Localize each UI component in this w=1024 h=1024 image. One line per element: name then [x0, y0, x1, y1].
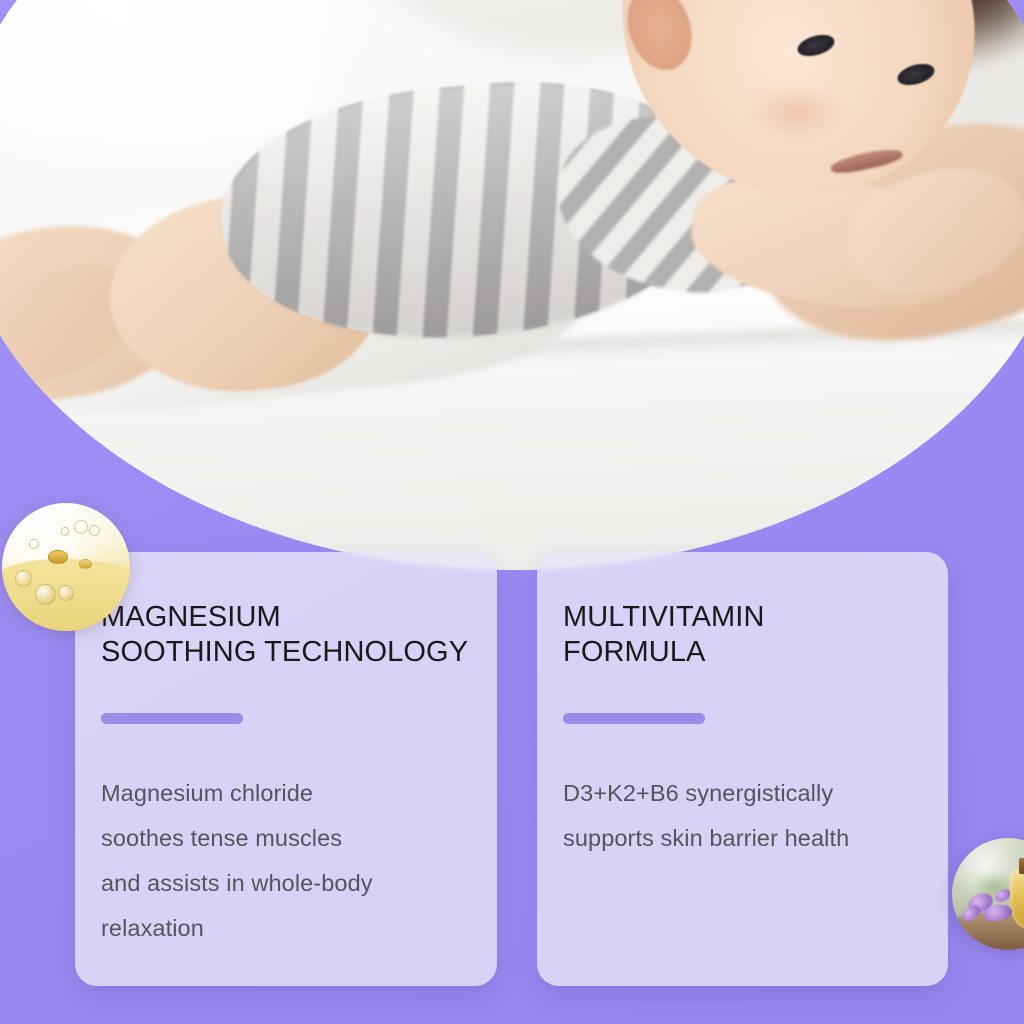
card-title: MULTIVITAMIN FORMULA [563, 600, 920, 671]
oil-droplet [48, 550, 68, 564]
oil-bubble [74, 520, 89, 535]
window-light-left [0, 0, 311, 133]
card-description: D3+K2+B6 synergistically supports skin b… [563, 771, 920, 861]
oil-bubble [15, 570, 32, 587]
product-feature-banner: MAGNESIUM SOOTHING TECHNOLOGY Magnesium … [0, 0, 1024, 1024]
feature-card-multivitamin: MULTIVITAMIN FORMULA D3+K2+B6 synergisti… [537, 552, 948, 986]
card-title: MAGNESIUM SOOTHING TECHNOLOGY [101, 600, 469, 671]
feature-card-magnesium: MAGNESIUM SOOTHING TECHNOLOGY Magnesium … [75, 552, 497, 986]
accent-bar [101, 713, 243, 724]
baby-lying-on-bed-photo [0, 0, 1024, 570]
baby-cheek [746, 86, 846, 141]
oil-bubble [89, 525, 100, 536]
card-description: Magnesium chloride soothes tense muscles… [101, 771, 469, 951]
hero-photo-mask [0, 0, 1024, 570]
bottle-cork [1019, 858, 1024, 874]
oil-bubble [29, 539, 39, 549]
oil-droplet-badge [2, 503, 130, 631]
accent-bar [563, 713, 705, 724]
oil-bubble [61, 527, 69, 535]
